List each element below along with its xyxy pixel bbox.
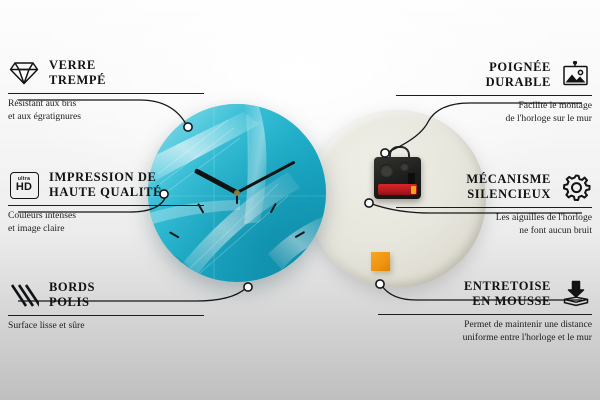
- gear-icon: [560, 171, 592, 203]
- feature-poignee-durable: POIGNÉE DURABLE Facilite le montage de l…: [396, 58, 592, 126]
- feature-title: ENTRETOISE EN MOUSSE: [464, 279, 551, 309]
- product-infographic: VERRE TREMPÉ Résistant aux bris et aux é…: [0, 0, 600, 400]
- feature-title: POIGNÉE DURABLE: [486, 60, 551, 90]
- feature-mecanisme-silencieux: MÉCANISME SILENCIEUX Les aiguilles de l'…: [396, 170, 592, 238]
- feature-divider: [396, 207, 592, 208]
- foam-spacer: [371, 252, 390, 271]
- feature-header: BORDS POLIS: [8, 278, 204, 312]
- feature-entretoise-en-mousse: ENTRETOISE EN MOUSSE Permet de maintenir…: [378, 277, 592, 345]
- mechanism-dial: [380, 164, 393, 177]
- feature-header: ENTRETOISE EN MOUSSE: [378, 277, 592, 311]
- feature-header: POIGNÉE DURABLE: [396, 58, 592, 92]
- feature-divider: [8, 205, 204, 206]
- clock-center-cap: [234, 190, 240, 196]
- feature-description: Surface lisse et sûre: [8, 320, 204, 333]
- feature-title: IMPRESSION DE HAUTE QUALITÉ: [49, 170, 162, 200]
- feature-description: Résistant aux bris et aux égratignures: [8, 98, 204, 124]
- feature-divider: [8, 93, 204, 94]
- feature-verre-trempe: VERRE TREMPÉ Résistant aux bris et aux é…: [8, 56, 204, 124]
- feature-header: ultra HD IMPRESSION DE HAUTE QUALITÉ: [8, 168, 204, 202]
- foam-press-icon: [560, 278, 592, 310]
- feature-divider: [8, 315, 204, 316]
- feature-divider: [396, 95, 592, 96]
- ultra-hd-badge: ultra HD: [10, 172, 39, 199]
- feature-divider: [378, 314, 592, 315]
- ultra-hd-icon: ultra HD: [8, 169, 40, 201]
- diagonal-lines-icon: [8, 279, 40, 311]
- clock-tick: [159, 270, 170, 272]
- feature-description: Couleurs intenses et image claire: [8, 210, 204, 236]
- feature-title: BORDS POLIS: [49, 280, 95, 310]
- feature-title: VERRE TREMPÉ: [49, 58, 106, 88]
- feature-description: Facilite le montage de l'horloge sur le …: [396, 100, 592, 126]
- feature-impression-haute-qualite: ultra HD IMPRESSION DE HAUTE QUALITÉ Cou…: [8, 168, 204, 236]
- feature-header: VERRE TREMPÉ: [8, 56, 204, 90]
- feature-description: Les aiguilles de l'horloge ne font aucun…: [396, 212, 592, 238]
- picture-frame-icon: [560, 59, 592, 91]
- feature-bords-polis: BORDS POLIS Surface lisse et sûre: [8, 278, 204, 333]
- feature-description: Permet de maintenir une distance uniform…: [378, 319, 592, 345]
- diamond-icon: [8, 57, 40, 89]
- feature-title: MÉCANISME SILENCIEUX: [466, 172, 551, 202]
- feature-header: MÉCANISME SILENCIEUX: [396, 170, 592, 204]
